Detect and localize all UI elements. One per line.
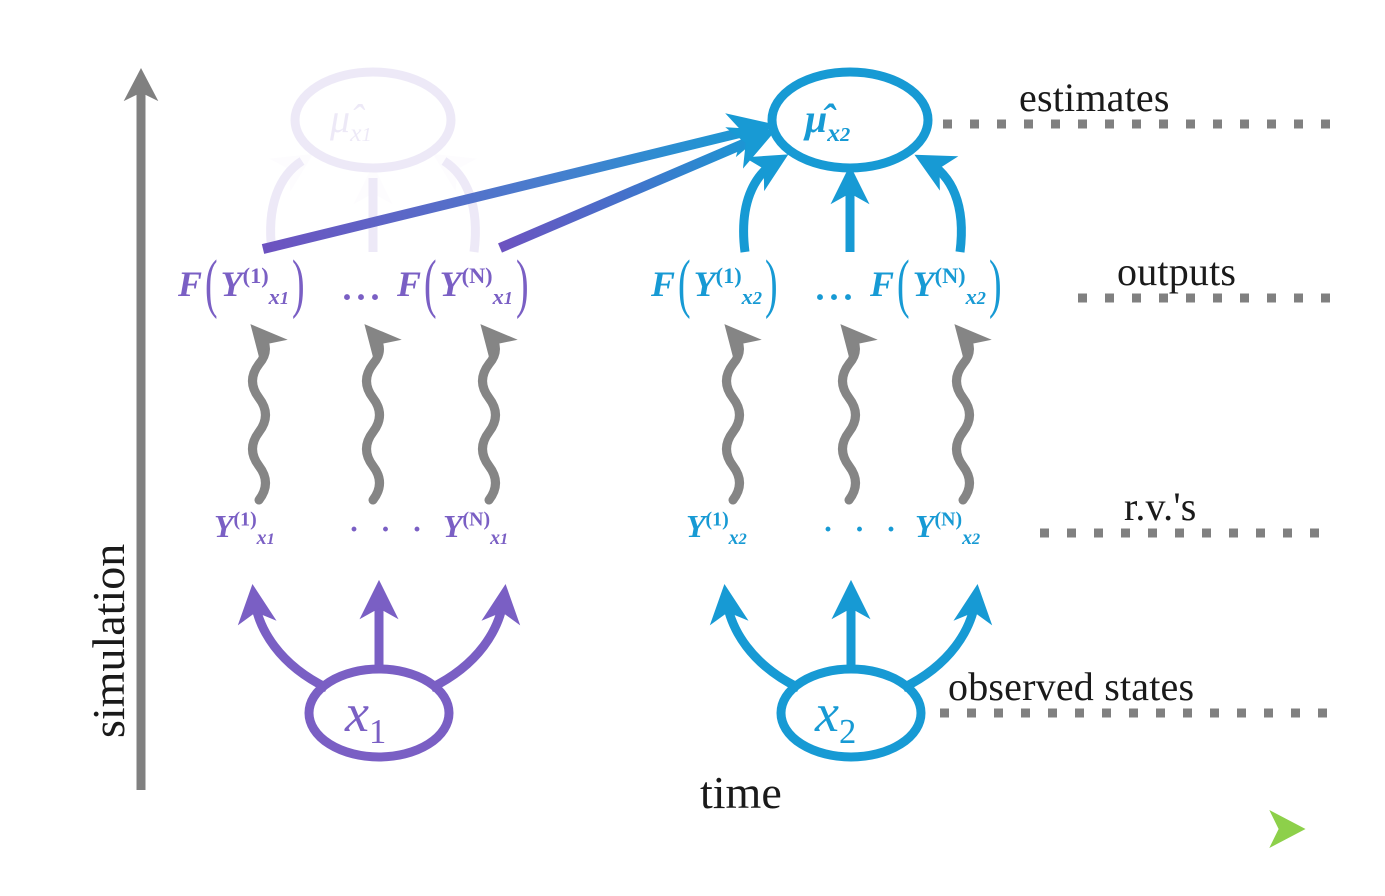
sup-index: (1) bbox=[243, 263, 269, 288]
sup-index: (1) bbox=[706, 508, 729, 530]
output-ellipsis-x1: ··· bbox=[341, 276, 383, 318]
mu-hat-glyph-x2: μ̂ bbox=[805, 96, 827, 141]
x-axis-label: time bbox=[700, 766, 782, 819]
rparen: ) bbox=[292, 246, 305, 323]
sub-index: x2 bbox=[962, 527, 980, 549]
squiggly-x1-1 bbox=[253, 334, 266, 500]
output-expr-x1-N: F ( Y(N)x1 ) bbox=[397, 262, 529, 310]
x-glyph: x bbox=[345, 683, 369, 743]
mu-sub-x2: x2 bbox=[827, 118, 850, 147]
squiggly-arrows-x2 bbox=[727, 334, 970, 500]
squiggly-x2-mid bbox=[843, 334, 856, 500]
Y-glyph: Y bbox=[915, 508, 935, 544]
squiggly-x2-N bbox=[957, 334, 970, 500]
Y-glyph: Y bbox=[221, 264, 243, 304]
sub-index: x1 bbox=[493, 284, 513, 309]
arrow-out1-to-mu-x2 bbox=[744, 161, 777, 252]
state-label-x2: x2 bbox=[815, 682, 856, 752]
y-axis-label: simulation bbox=[82, 544, 135, 738]
mu-hat-glyph-x1: μ̂ bbox=[330, 96, 350, 141]
sup-index: (N) bbox=[935, 263, 966, 288]
F-glyph: F bbox=[870, 264, 894, 304]
rparen: ) bbox=[516, 246, 529, 323]
state-label-x1: x1 bbox=[345, 682, 386, 752]
F-glyph: F bbox=[178, 264, 202, 304]
sub-index: x1 bbox=[257, 527, 275, 549]
sup-index: (N) bbox=[935, 508, 963, 530]
Y-glyph: Y bbox=[686, 508, 706, 544]
sub-index: x1 bbox=[269, 284, 289, 309]
Y-glyph: Y bbox=[214, 508, 234, 544]
Y-glyph: Y bbox=[913, 264, 935, 304]
mu-sub-x1: x1 bbox=[350, 118, 372, 147]
arrow-outN-x1-to-mu-x2 bbox=[500, 136, 762, 248]
output-to-estimate-arrows-x2 bbox=[744, 161, 962, 252]
row-label-estimates: estimates bbox=[1019, 74, 1170, 121]
output-expr-x2-1: F ( Y(1)x2 ) bbox=[651, 262, 778, 310]
arrow-x1-to-rvN bbox=[431, 597, 504, 688]
column-x1 bbox=[253, 72, 505, 757]
sub-index: x1 bbox=[490, 527, 508, 549]
squiggly-x2-1 bbox=[727, 334, 740, 500]
rparen: ) bbox=[989, 246, 1002, 323]
ellipse-mu-x1 bbox=[295, 72, 451, 168]
sub-index: x2 bbox=[729, 527, 747, 549]
sup-index: (N) bbox=[463, 508, 491, 530]
rv-ellipsis-x2: · · · bbox=[823, 513, 903, 547]
row-label-observed-states: observed states bbox=[948, 663, 1194, 710]
figure-canvas: simulation time estimates outputs r.v.'s… bbox=[0, 0, 1385, 896]
squiggly-arrows-x1 bbox=[253, 334, 496, 500]
row-guides bbox=[940, 124, 1330, 713]
Y-glyph: Y bbox=[440, 264, 462, 304]
row-label-rvs: r.v.'s bbox=[1124, 483, 1197, 530]
lparen: ( bbox=[897, 246, 910, 323]
arrow-outN-to-mu-x2 bbox=[926, 161, 961, 252]
sup-index: (1) bbox=[716, 263, 742, 288]
row-label-outputs: outputs bbox=[1117, 248, 1236, 295]
lparen: ( bbox=[424, 246, 437, 323]
column-x2 bbox=[726, 72, 976, 757]
F-glyph: F bbox=[397, 264, 421, 304]
F-glyph: F bbox=[651, 264, 675, 304]
sub-index: x2 bbox=[966, 284, 986, 309]
estimate-label-x2: μ̂x2 bbox=[805, 95, 850, 148]
lparen: ( bbox=[678, 246, 691, 323]
estimate-label-x1: μ̂x1 bbox=[330, 95, 372, 148]
Y-glyph: Y bbox=[694, 264, 716, 304]
squiggly-x1-mid bbox=[367, 334, 380, 500]
lparen: ( bbox=[205, 246, 218, 323]
output-expr-x1-1: F ( Y(1)x1 ) bbox=[178, 262, 305, 310]
rv-label-x2-N: Y(N)x2 bbox=[915, 508, 980, 550]
squiggly-x1-N bbox=[483, 334, 496, 500]
Y-glyph: Y bbox=[443, 508, 463, 544]
output-expr-x2-N: F ( Y(N)x2 ) bbox=[870, 262, 1002, 310]
sub-index: x2 bbox=[742, 284, 762, 309]
sup-index: (N) bbox=[462, 263, 493, 288]
sup-index: (1) bbox=[234, 508, 257, 530]
rv-label-x2-1: Y(1)x2 bbox=[686, 508, 747, 550]
x-glyph: x bbox=[815, 683, 839, 743]
arrow-x2-to-rv1 bbox=[726, 597, 799, 688]
rv-label-x1-1: Y(1)x1 bbox=[214, 508, 275, 550]
x-sub-1: 1 bbox=[369, 713, 386, 751]
rparen: ) bbox=[765, 246, 778, 323]
arrow-x1-to-rv1 bbox=[254, 597, 327, 688]
rv-ellipsis-x1: · · · bbox=[349, 513, 429, 547]
output-ellipsis-x2: ··· bbox=[814, 276, 856, 318]
diagram-svg bbox=[0, 0, 1385, 896]
x-sub-2: 2 bbox=[839, 713, 856, 751]
rv-label-x1-N: Y(N)x1 bbox=[443, 508, 508, 550]
